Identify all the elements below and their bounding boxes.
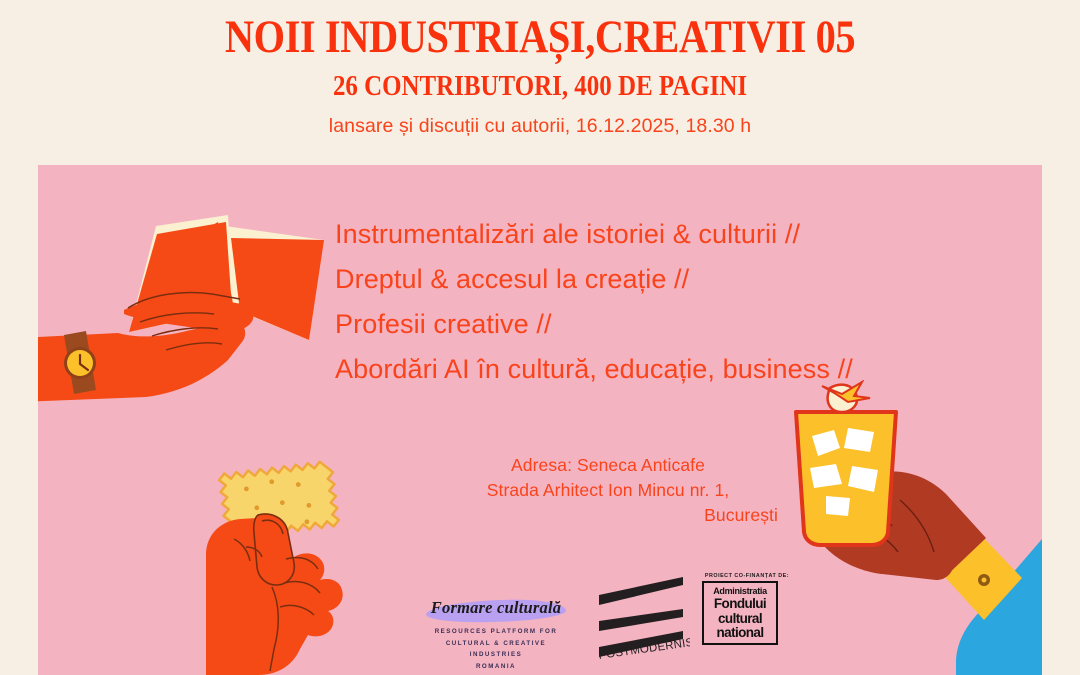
formare-wordmark: Formare culturală [420, 595, 572, 621]
venue-address-block: Adresa: Seneca Anticafe Strada Arhitect … [438, 453, 778, 528]
afcn-line-3: cultural [708, 612, 772, 626]
hand-holding-cocktail-illustration [778, 380, 1042, 675]
topic-line: Profesii creative // [335, 302, 1035, 347]
partner-logo-row: Formare culturală RESOURCES PLATFORM FOR… [420, 573, 765, 665]
pink-content-panel: Instrumentalizări ale istoriei & culturi… [38, 165, 1042, 675]
topics-list: Instrumentalizări ale istoriei & culturi… [335, 212, 1035, 392]
poster-header: NOII INDUSTRIAȘI,CREATIVII 05 26 CONTRIB… [0, 0, 1080, 165]
page-title: NOII INDUSTRIAȘI,CREATIVII 05 [76, 12, 1005, 62]
address-venue: Adresa: Seneca Anticafe [438, 453, 778, 478]
logo-formare-culturala: Formare culturală RESOURCES PLATFORM FOR… [420, 595, 572, 671]
afcn-line-2: Fondului [708, 597, 772, 611]
topic-line: Dreptul & accesul la creație // [335, 257, 1035, 302]
address-street: Strada Arhitect Ion Mincu nr. 1, [438, 478, 778, 503]
logo-afcn: PROIECT CO-FINANȚAT DE: Administratia Fo… [702, 573, 792, 645]
page-subtitle: 26 CONTRIBUTORI, 400 DE PAGINI [76, 70, 1005, 102]
logo-postmodernism: POSTMODERNISM [595, 573, 690, 661]
afcn-logo-box: Administratia Fondului cultural national [702, 581, 778, 645]
address-city: București [438, 503, 778, 528]
hand-holding-cracker-illustration [188, 427, 388, 675]
afcn-line-4: national [708, 626, 772, 640]
hand-holding-open-book-illustration [38, 190, 338, 415]
topic-line: Instrumentalizări ale istoriei & culturi… [335, 212, 1035, 257]
topic-line: Abordări AI în cultură, educație, busine… [335, 347, 1035, 392]
formare-tagline-line: RESOURCES PLATFORM FOR [420, 627, 572, 637]
formare-tagline-line: ROMANIA [420, 662, 572, 672]
event-datetime-line: lansare și discuții cu autorii, 16.12.20… [0, 113, 1080, 139]
poster-canvas: NOII INDUSTRIAȘI,CREATIVII 05 26 CONTRIB… [0, 0, 1080, 675]
afcn-cofinance-caption: PROIECT CO-FINANȚAT DE: [702, 573, 792, 579]
postmodernism-mark-icon: POSTMODERNISM [595, 573, 690, 661]
afcn-line-1: Administratia [708, 587, 772, 596]
formare-tagline-line: INDUSTRIES [420, 650, 572, 660]
formare-tagline-line: CULTURAL & CREATIVE [420, 639, 572, 649]
